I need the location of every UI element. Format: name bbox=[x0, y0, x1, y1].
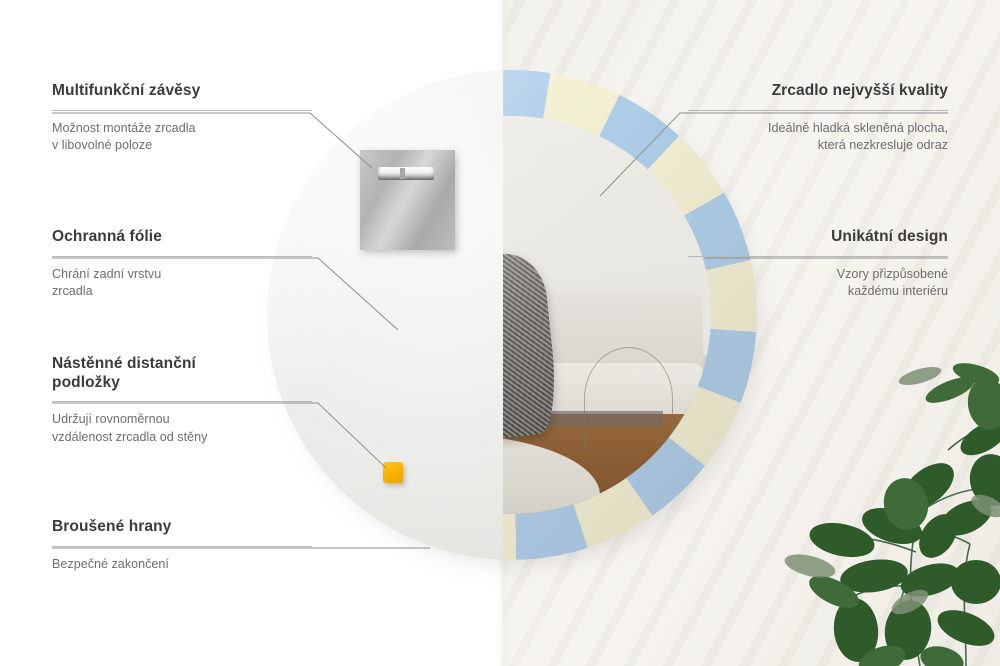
callout-desc: Chrání zadní vrstvu zrcadla bbox=[52, 266, 312, 302]
callout-rule bbox=[688, 256, 948, 257]
callout-ochranna-folie: Ochranná fólie Chrání zadní vrstvu zrcad… bbox=[52, 228, 312, 301]
callout-title: Unikátní design bbox=[688, 228, 948, 247]
callout-multifunkcni-zavesy: Multifunkční závěsy Možnost montáže zrca… bbox=[52, 82, 312, 155]
desc-line-2: která nezkresluje odraz bbox=[818, 138, 948, 152]
callout-brousene-hrany: Broušené hrany Bezpečné zakončení bbox=[52, 518, 312, 573]
desc-line-1: Možnost montáže zrcadla bbox=[52, 121, 196, 135]
callout-desc: Vzory přizpůsobené každému interiéru bbox=[688, 266, 948, 302]
callout-rule bbox=[52, 256, 312, 257]
desc-line-1: Bezpečné zakončení bbox=[52, 557, 169, 571]
infographic-stage: Multifunkční závěsy Možnost montáže zrca… bbox=[0, 0, 1000, 666]
callout-unikatni-design: Unikátní design Vzory přizpůsobené každé… bbox=[688, 228, 948, 301]
callout-desc: Bezpečné zakončení bbox=[52, 556, 312, 574]
callout-rule bbox=[52, 110, 312, 111]
desc-line-2: zrcadla bbox=[52, 284, 93, 298]
title-line-1: Nástěnné distanční bbox=[52, 355, 196, 372]
callout-rule bbox=[52, 401, 312, 402]
callout-rule bbox=[688, 110, 948, 111]
callout-nastenne-distancni-podlozky: Nástěnné distanční podložky Udržují rovn… bbox=[52, 355, 312, 447]
callout-zrcadlo-nejvyssi-kvality: Zrcadlo nejvyšší kvality Ideálně hladká … bbox=[688, 82, 948, 155]
callout-desc: Ideálně hladká skleněná plocha, která ne… bbox=[688, 120, 948, 156]
desc-line-2: každému interiéru bbox=[848, 284, 948, 298]
desc-line-1: Udržují rovnoměrnou bbox=[52, 412, 170, 426]
desc-line-1: Chrání zadní vrstvu bbox=[52, 267, 161, 281]
callout-desc: Udržují rovnoměrnou vzdálenost zrcadla o… bbox=[52, 411, 312, 447]
title-line-2: podložky bbox=[52, 374, 120, 391]
callout-desc: Možnost montáže zrcadla v libovolné polo… bbox=[52, 120, 312, 156]
callout-rule bbox=[52, 546, 312, 547]
callout-title: Broušené hrany bbox=[52, 518, 312, 537]
desc-line-1: Ideálně hladká skleněná plocha, bbox=[768, 121, 948, 135]
callout-title: Multifunkční závěsy bbox=[52, 82, 312, 101]
desc-line-2: v libovolné poloze bbox=[52, 138, 152, 152]
desc-line-2: vzdálenost zrcadla od stěny bbox=[52, 430, 207, 444]
callout-title: Zrcadlo nejvyšší kvality bbox=[688, 82, 948, 101]
callout-title: Ochranná fólie bbox=[52, 228, 312, 247]
desc-line-1: Vzory přizpůsobené bbox=[837, 267, 948, 281]
callout-title: Nástěnné distanční podložky bbox=[52, 355, 312, 392]
